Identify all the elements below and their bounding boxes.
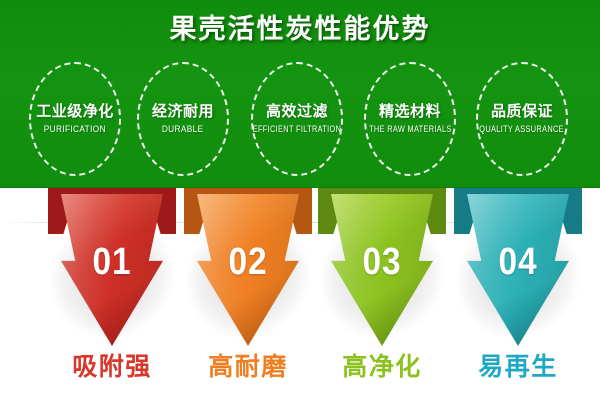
feature-circle-durable: 经济耐用 DURABLE <box>137 62 229 176</box>
feature-circle-label-en: QUALITY ASSURANCE <box>480 123 565 136</box>
feature-circle-raw-materials: 精选材料 THE RAW MATERIALS <box>364 62 456 176</box>
arrow-caption-02: 高耐磨 <box>178 352 318 382</box>
arrow-caption-01: 吸附强 <box>42 352 182 382</box>
feature-circle-list: 工业级净化 PURIFICATION 经济耐用 DURABLE 高效过滤 EFF… <box>0 62 600 180</box>
arrow-caption-03: 高净化 <box>312 352 452 382</box>
feature-circle-label-cn: 高效过滤 <box>266 102 328 121</box>
feature-circle-label-cn: 工业级净化 <box>36 102 114 121</box>
feature-circle-label-en: DURABLE <box>162 123 204 136</box>
feature-circle-label-en: THE RAW MATERIALS <box>369 123 452 136</box>
arrow-number: 02 <box>186 242 309 282</box>
arrow-item-03: 03 <box>312 188 452 348</box>
feature-circle-label-en: EFFICIENT FILTRATION <box>253 123 342 136</box>
feature-circle-label-en: PURIFICATION <box>44 123 106 136</box>
feature-circle-label-cn: 品质保证 <box>491 102 553 121</box>
feature-circle-label-cn: 经济耐用 <box>152 102 214 121</box>
arrow-item-01: 01 <box>42 188 182 348</box>
feature-circle-efficient-filtration: 高效过滤 EFFICIENT FILTRATION <box>251 62 343 176</box>
arrow-caption-04: 易再生 <box>448 352 588 382</box>
poster-root: 果壳活性炭性能优势 工业级净化 PURIFICATION 经济耐用 DURABL… <box>0 0 600 400</box>
arrow-number: 01 <box>50 242 173 282</box>
header-band: 果壳活性炭性能优势 工业级净化 PURIFICATION 经济耐用 DURABL… <box>0 0 600 188</box>
feature-circle-purification: 工业级净化 PURIFICATION <box>29 62 121 176</box>
feature-circle-quality-assurance: 品质保证 QUALITY ASSURANCE <box>476 62 568 176</box>
arrow-item-02: 02 <box>178 188 318 348</box>
arrow-number: 04 <box>456 242 579 282</box>
arrow-item-04: 04 <box>448 188 588 348</box>
feature-circle-label-cn: 精选材料 <box>379 102 441 121</box>
arrow-number: 03 <box>320 242 443 282</box>
page-title: 果壳活性炭性能优势 <box>0 12 600 46</box>
